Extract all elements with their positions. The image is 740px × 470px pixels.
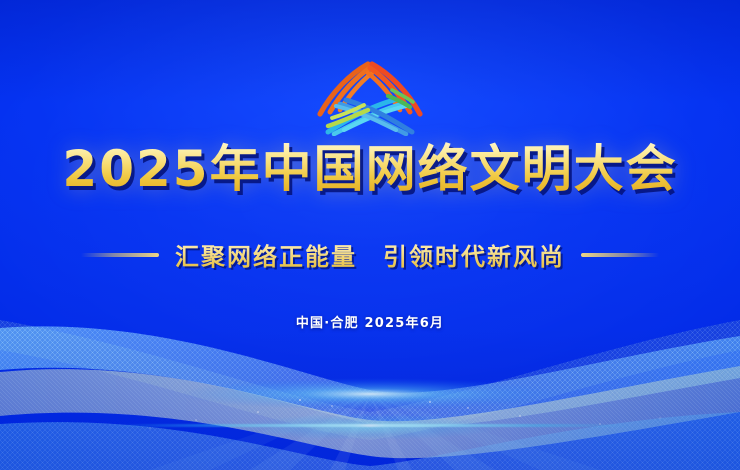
subtitle-rule-right-icon: [581, 253, 659, 257]
subtitle-rule-left-icon: [81, 253, 159, 257]
poster-subtitle: 汇聚网络正能量 引领时代新风尚: [175, 237, 565, 272]
conference-poster: 2025年中国网络文明大会 汇聚网络正能量 引领时代新风尚 中国·合肥 2025…: [0, 0, 740, 470]
poster-dateline: 中国·合肥 2025年6月: [0, 312, 740, 331]
poster-subtitle-row: 汇聚网络正能量 引领时代新风尚: [0, 237, 740, 272]
poster-title: 2025年中国网络文明大会: [62, 140, 677, 199]
poster-title-row: 2025年中国网络文明大会: [0, 140, 740, 199]
wave-decoration: [0, 320, 740, 470]
conference-emblem-icon: [310, 52, 430, 136]
